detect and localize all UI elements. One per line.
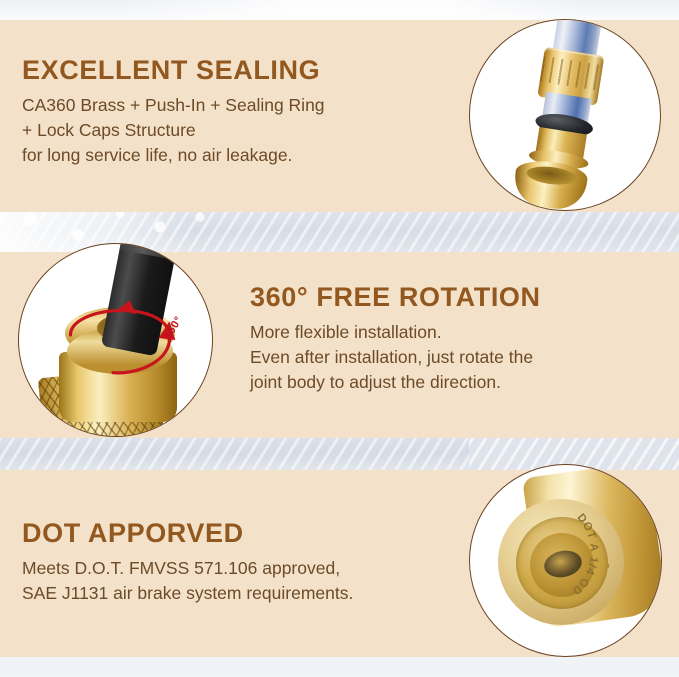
rotation-scene: 360° [19, 244, 212, 436]
text-block-excellent-sealing: EXCELLENT SEALING CA360 Brass + Push-In … [22, 56, 325, 168]
text-block-dot-approved: DOT APPORVED Meets D.O.T. FMVSS 571.106 … [22, 519, 353, 606]
body-line-sealing-1: CA360 Brass + Push-In + Sealing Ring [22, 93, 325, 118]
heading-dot-approved: DOT APPORVED [22, 519, 353, 547]
photo-brass-push-in-fitting-exploded [469, 19, 661, 211]
sealing-scene [470, 20, 660, 210]
body-line-rotation-3: joint body to adjust the direction. [250, 370, 541, 395]
heading-free-rotation: 360° FREE ROTATION [250, 283, 541, 311]
body-line-dot-1: Meets D.O.T. FMVSS 571.106 approved, [22, 556, 353, 581]
brass-socket-part [511, 158, 589, 211]
rotation-arrow-icon [19, 244, 212, 436]
text-block-free-rotation: 360° FREE ROTATION More flexible install… [250, 283, 541, 395]
photo-rotating-joint: 360° [18, 243, 213, 437]
product-feature-infographic: EXCELLENT SEALING CA360 Brass + Push-In … [0, 0, 679, 677]
body-line-dot-2: SAE J1131 air brake system requirements. [22, 581, 353, 606]
body-line-sealing-3: for long service life, no air leakage. [22, 143, 325, 168]
dot-scene: DOT A 1/4 OD [470, 465, 661, 656]
body-line-rotation-1: More flexible installation. [250, 320, 541, 345]
body-line-sealing-2: + Lock Caps Structure [22, 118, 325, 143]
body-line-rotation-2: Even after installation, just rotate the [250, 345, 541, 370]
photo-dot-marking: DOT A 1/4 OD [469, 464, 662, 657]
heading-excellent-sealing: EXCELLENT SEALING [22, 56, 325, 84]
sealing-fitting-assembly [524, 19, 610, 175]
